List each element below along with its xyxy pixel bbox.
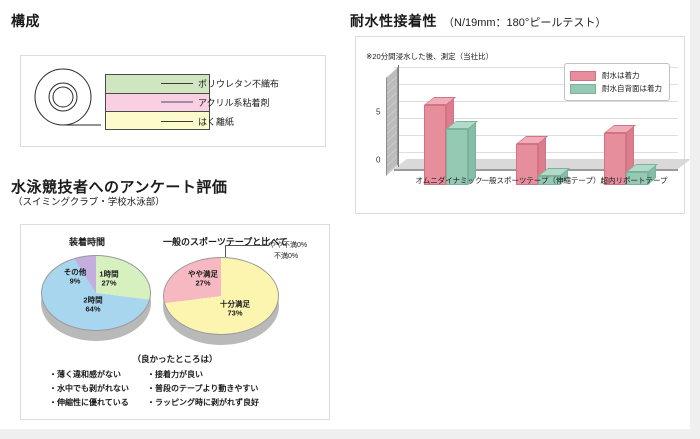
legend-item-0[interactable]: 耐水は着力 — [570, 70, 662, 81]
pie-label-2hour: 2時間 64% — [83, 296, 102, 313]
good-point-item: ・ラッピング時に剥がれず良好 — [147, 397, 259, 408]
composition-diagram-panel: ポリウレタン不織布 アクリル系粘着剤 はく離紙 — [20, 55, 326, 147]
pie-slices — [41, 255, 151, 331]
callout-polyurethane: ポリウレタン不織布 — [161, 77, 279, 89]
good-point-item: ・薄く違和感がない — [49, 369, 129, 380]
good-points-column-right: ・接着力が良い ・普段のテープより動きやすい ・ラッピング時に剥がれず良好 — [147, 369, 259, 408]
pie-value-text: 9% — [70, 276, 81, 285]
section-title-water-resistance: 耐水性接着性 （N/19mm：180°ピールテスト） — [350, 11, 606, 31]
water-resistance-subtitle: （N/19mm：180°ピールテスト） — [443, 14, 606, 30]
x-tick-label-2: 超内リポートテープ — [600, 175, 667, 186]
layer-callouts: ポリウレタン不織布 アクリル系粘着剤 はく離紙 — [161, 70, 331, 136]
good-point-item: ・普段のテープより動きやすい — [147, 383, 259, 394]
callout-line-icon — [225, 245, 226, 257]
wear-time-pie-chart[interactable]: 1時間 27% 2時間 64% その他 9% — [41, 255, 151, 331]
x-tick-label-1: 一般スポーツテープ（伸縮テープ） — [482, 175, 601, 186]
right-gutter — [690, 0, 700, 439]
good-points-list: ・薄く違和感がない ・水中でも剥がれない ・伸縮性に優れている ・接着力が良い … — [49, 369, 313, 408]
pie-label-fully-satisfied: 十分満足 73% — [220, 300, 250, 317]
bottom-gutter — [0, 429, 700, 439]
bar-front-face — [424, 105, 446, 185]
leader-line-icon — [161, 101, 193, 103]
callout-label-acrylic: アクリル系粘着剤 — [198, 96, 270, 109]
satisfaction-pie-chart[interactable]: やや満足 27% 十分満足 73% — [163, 257, 279, 335]
pie-title-wear-time: 装着時間 — [69, 235, 105, 248]
water-resistance-title: 耐水性接着性 — [350, 11, 437, 31]
pie-value-text: 27% — [195, 278, 210, 287]
legend-swatch-icon — [570, 84, 596, 94]
bar-0-series-0[interactable] — [424, 105, 446, 185]
legend-swatch-icon — [570, 71, 596, 81]
callout-release-paper: はく離紙 — [161, 115, 234, 127]
pie-label-somewhat-satisfied: やや満足 27% — [188, 270, 218, 287]
chart-back-wall — [386, 67, 398, 176]
y-tick-5: 5 — [376, 108, 380, 117]
page-root: 構成 ポリウレタン不織布 アクリル系粘着剤 — [0, 0, 700, 439]
survey-panel: 装着時間 1時間 27% 2時間 64% その他 9% 一般のスポーツテープと比… — [20, 224, 330, 420]
leader-line-icon — [161, 121, 193, 122]
pie-value-text: 73% — [227, 308, 242, 317]
legend-label-1: 耐水自背面は着力 — [602, 83, 662, 94]
x-tick-label-0: オムニダイナミック — [415, 175, 482, 186]
good-points-title: （良かったところは） — [21, 353, 329, 365]
pie-value-text: 64% — [85, 304, 100, 313]
water-resistance-chart-panel: ※20分間浸水した後、測定（当社比） 0 5 — [355, 36, 685, 214]
pie-callout-somewhat-dissatisfied: やや不満0% — [269, 240, 307, 250]
callout-label-release-paper: はく離紙 — [198, 115, 234, 128]
pie-slices — [163, 257, 279, 335]
good-point-item: ・伸縮性に優れている — [49, 397, 129, 408]
legend-item-1[interactable]: 耐水自背面は着力 — [570, 83, 662, 94]
good-points-column-left: ・薄く違和感がない ・水中でも剥がれない ・伸縮性に優れている — [49, 369, 129, 408]
section-title-composition: 構成 — [11, 11, 40, 31]
y-tick-0: 0 — [376, 156, 380, 165]
pie-label-1hour: 1時間 27% — [99, 270, 118, 287]
pie-label-other: その他 9% — [64, 268, 87, 285]
leader-line-icon — [161, 83, 193, 84]
y-axis-line — [398, 65, 399, 167]
section-subtitle-survey: （スイミングクラブ・学校水泳部） — [13, 194, 165, 208]
legend-label-0: 耐水は着力 — [602, 70, 640, 81]
pie-callout-dissatisfied: 不満0% — [274, 251, 298, 261]
chart-legend: 耐水は着力 耐水自背面は着力 — [564, 63, 670, 101]
good-point-item: ・接着力が良い — [147, 369, 259, 380]
callout-line-icon — [225, 245, 267, 246]
good-point-item: ・水中でも剥がれない — [49, 383, 129, 394]
callout-acrylic: アクリル系粘着剤 — [161, 96, 270, 108]
chart-annotation: ※20分間浸水した後、測定（当社比） — [366, 51, 493, 62]
pie-value-text: 27% — [101, 278, 116, 287]
callout-label-polyurethane: ポリウレタン不織布 — [198, 77, 279, 90]
tape-roll-icon — [31, 67, 101, 137]
